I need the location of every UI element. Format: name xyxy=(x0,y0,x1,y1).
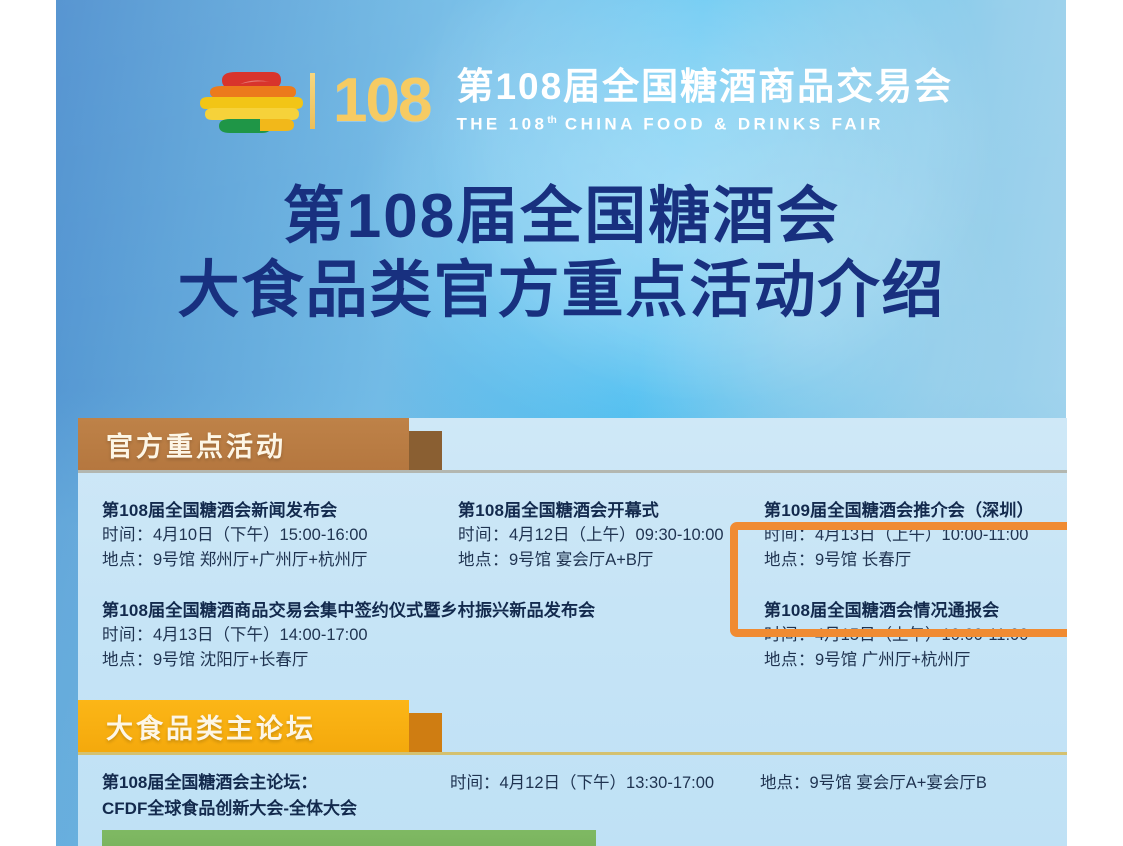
event-card-briefing[interactable]: 第108届全国糖酒会情况通报会 时间：4月15日（上午）10:00-11:00 … xyxy=(764,598,1028,673)
header-text-block: 第108届全国糖酒商品交易会 THE 108th CHINA FOOD & DR… xyxy=(456,66,970,136)
forum-time-row: 时间：4月12日（下午）13:30-17:00 xyxy=(450,770,714,796)
event-time-row: 时间：4月12日（上午）09:30-10:00 xyxy=(458,523,724,548)
time-label: 时间： xyxy=(458,526,509,544)
event-title: 第108届全国糖酒会开幕式 xyxy=(458,498,724,523)
event-time: 4月13日（上午）10:00-11:00 xyxy=(815,526,1028,544)
page-title-line2: 大食品类官方重点活动介绍 xyxy=(0,254,1123,328)
page-title-line1: 第108届全国糖酒会 xyxy=(0,180,1123,254)
forum-place: 9号馆 宴会厅A+宴会厅B xyxy=(810,774,987,792)
header-title-en-pre: THE 108 xyxy=(456,115,547,134)
event-time-row: 时间：4月10日（下午）15:00-16:00 xyxy=(102,523,368,548)
forum-title: 第108届全国糖酒会主论坛： CFDF全球食品创新大会-全体大会 xyxy=(102,770,357,822)
section-band-official-tab xyxy=(409,431,442,470)
forum-place-row: 地点：9号馆 宴会厅A+宴会厅B xyxy=(760,770,987,796)
content-card: 官方重点活动 第108届全国糖酒会新闻发布会 时间：4月10日（下午）15:00… xyxy=(78,418,1072,846)
event-card-news[interactable]: 第108届全国糖酒会新闻发布会 时间：4月10日（下午）15:00-16:00 … xyxy=(102,498,368,573)
forum-time: 4月12日（下午）13:30-17:00 xyxy=(500,774,715,792)
event-time: 4月13日（下午）14:00-17:00 xyxy=(153,626,368,644)
official-events-grid: 第108届全国糖酒会新闻发布会 时间：4月10日（下午）15:00-16:00 … xyxy=(78,470,1072,700)
section-band-forum-label: 大食品类主论坛 xyxy=(78,700,409,752)
edition-number: 108 xyxy=(333,70,430,132)
header-title-en-post: CHINA FOOD & DRINKS FAIR xyxy=(565,115,884,134)
event-place-row: 地点：9号馆 郑州厅+广州厅+杭州厅 xyxy=(102,548,368,573)
place-label: 地点： xyxy=(102,551,153,569)
place-label: 地点： xyxy=(764,551,815,569)
event-place: 9号馆 宴会厅A+B厅 xyxy=(509,551,653,569)
event-time: 4月12日（上午）09:30-10:00 xyxy=(509,526,724,544)
event-time-row: 时间：4月15日（上午）10:00-11:00 xyxy=(764,623,1028,648)
event-place-row: 地点：9号馆 长春厅 xyxy=(764,548,1034,573)
event-place-row: 地点：9号馆 广州厅+杭州厅 xyxy=(764,648,1028,673)
page-title: 第108届全国糖酒会 大食品类官方重点活动介绍 xyxy=(0,180,1123,328)
place-label: 地点： xyxy=(760,774,810,792)
event-place-row: 地点：9号馆 沈阳厅+长春厅 xyxy=(102,648,595,673)
time-label: 时间： xyxy=(450,774,500,792)
time-label: 时间： xyxy=(764,526,815,544)
poster-canvas: 108 第108届全国糖酒商品交易会 THE 108th CHINA FOOD … xyxy=(0,0,1123,846)
place-label: 地点： xyxy=(764,651,815,669)
event-time-row: 时间：4月13日（下午）14:00-17:00 xyxy=(102,623,595,648)
event-time-row: 时间：4月13日（上午）10:00-11:00 xyxy=(764,523,1034,548)
section-band-official-label: 官方重点活动 xyxy=(78,418,409,470)
cfdf-wing-logo-icon xyxy=(200,64,304,138)
event-place: 9号馆 长春厅 xyxy=(815,551,911,569)
event-place: 9号馆 广州厅+杭州厅 xyxy=(815,651,970,669)
section-band-forum-tab xyxy=(409,713,442,752)
forum-title-line2: CFDF全球食品创新大会-全体大会 xyxy=(102,796,357,822)
logo-divider xyxy=(310,73,315,129)
event-place: 9号馆 沈阳厅+长春厅 xyxy=(153,651,308,669)
page-margin-right xyxy=(1067,0,1123,846)
forum-title-line1: 第108届全国糖酒会主论坛： xyxy=(102,770,357,796)
event-title: 第109届全国糖酒会推介会（深圳） xyxy=(764,498,1034,523)
event-place-row: 地点：9号馆 宴会厅A+B厅 xyxy=(458,548,724,573)
header-lockup: 108 第108届全国糖酒商品交易会 THE 108th CHINA FOOD … xyxy=(200,58,970,144)
place-label: 地点： xyxy=(458,551,509,569)
section-band-official: 官方重点活动 xyxy=(78,418,1072,470)
event-title: 第108届全国糖酒商品交易会集中签约仪式暨乡村振兴新品发布会 xyxy=(102,598,595,623)
next-section-band-partial xyxy=(102,830,596,846)
event-card-signing[interactable]: 第108届全国糖酒商品交易会集中签约仪式暨乡村振兴新品发布会 时间：4月13日（… xyxy=(102,598,595,673)
header-title-en: THE 108th CHINA FOOD & DRINKS FAIR xyxy=(456,110,970,136)
page-margin-left xyxy=(0,0,56,846)
place-label: 地点： xyxy=(102,651,153,669)
event-time: 4月15日（上午）10:00-11:00 xyxy=(815,626,1028,644)
time-label: 时间： xyxy=(102,526,153,544)
section-band-forum: 大食品类主论坛 xyxy=(78,700,1072,752)
header-title-cn: 第108届全国糖酒商品交易会 xyxy=(456,66,970,108)
event-title: 第108届全国糖酒会新闻发布会 xyxy=(102,498,368,523)
event-card-promo-shenzhen[interactable]: 第109届全国糖酒会推介会（深圳） 时间：4月13日（上午）10:00-11:0… xyxy=(764,498,1034,573)
event-title: 第108届全国糖酒会情况通报会 xyxy=(764,598,1028,623)
time-label: 时间： xyxy=(102,626,153,644)
time-label: 时间： xyxy=(764,626,815,644)
event-time: 4月10日（下午）15:00-16:00 xyxy=(153,526,368,544)
event-place: 9号馆 郑州厅+广州厅+杭州厅 xyxy=(153,551,368,569)
event-card-opening[interactable]: 第108届全国糖酒会开幕式 时间：4月12日（上午）09:30-10:00 地点… xyxy=(458,498,724,573)
header-title-en-ordinal: th xyxy=(547,115,556,126)
